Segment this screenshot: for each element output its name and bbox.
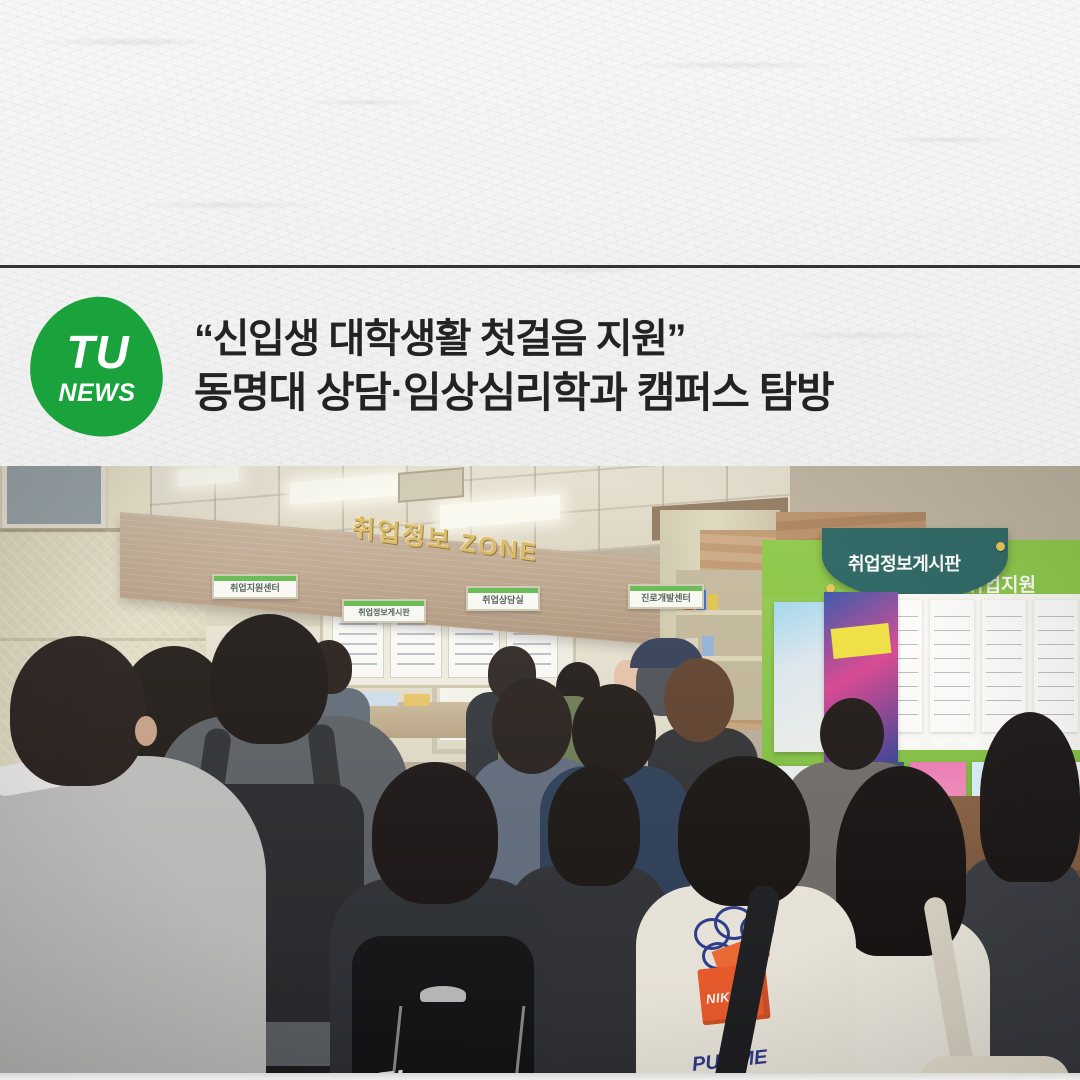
backpack-cords xyxy=(385,1006,526,1080)
hanging-sign-right-label: 진로개발센터 xyxy=(641,593,691,603)
wall-trim-line-2 xyxy=(0,638,218,641)
student-long-hair xyxy=(980,712,1080,882)
backpack-logo-icon xyxy=(420,986,466,1002)
paper-stack xyxy=(404,694,430,706)
hanging-sign-consultation-room: 취업상담실 xyxy=(466,586,540,611)
headline-group: “신입생 대학생활 첫걸음 지원” 동명대 상담·임상심리학과 캠퍼스 탐방 xyxy=(194,313,1080,420)
brochure xyxy=(702,636,714,656)
student-head xyxy=(678,756,810,906)
sign-pin xyxy=(996,542,1005,551)
student-head xyxy=(548,766,640,886)
student-head-front xyxy=(10,636,146,786)
student-head xyxy=(492,678,572,774)
shelf xyxy=(676,610,762,615)
logo-tu-text: TU xyxy=(66,329,129,375)
hanging-sign-notice-board: 취업정보게시판 xyxy=(342,599,426,623)
schedule-sheet xyxy=(930,600,974,732)
student-head xyxy=(664,658,734,742)
headline-quote: “신입생 대학생활 첫걸음 지원” xyxy=(194,313,1080,366)
left-window xyxy=(2,466,106,529)
ceiling-vent xyxy=(398,467,464,503)
student-ear xyxy=(135,716,157,746)
student-head xyxy=(372,762,498,904)
student-head xyxy=(572,684,656,780)
bottom-edge-strip xyxy=(0,1073,1080,1080)
headline-main: 동명대 상담·임상심리학과 캠퍼스 탐방 xyxy=(194,366,1080,421)
student-head xyxy=(210,614,328,744)
hanging-sign-job-support-center: 취업지원센터 xyxy=(212,574,298,599)
brochure xyxy=(708,594,718,610)
student-head xyxy=(820,698,884,770)
student-hoodie xyxy=(0,756,266,1080)
poster-highlight-band xyxy=(831,623,892,659)
logo-text-group: TU NEWS xyxy=(30,297,162,437)
headline-band: TU NEWS “신입생 대학생활 첫걸음 지원” 동명대 상담·임상심리학과 … xyxy=(0,268,1080,466)
logo-news-text: NEWS xyxy=(59,381,136,406)
top-blank-area xyxy=(0,0,1080,266)
tu-news-logo[interactable]: TU NEWS xyxy=(30,297,162,437)
schedule-sheet xyxy=(982,600,1026,732)
hanging-sign-left-label: 취업지원센터 xyxy=(230,583,280,593)
notice-board-label: 취업정보게시판 xyxy=(358,608,410,617)
hanging-sign-career-center: 진로개발센터 xyxy=(628,584,704,609)
news-photo: 취업정보 ZONE 취업지원센터 취업정보게시판 취업상담실 진로개발센터 xyxy=(0,466,1080,1080)
curved-sign-label: 취업정보게시판 xyxy=(848,550,960,576)
schedule-sheet xyxy=(1034,600,1078,732)
news-card: TU NEWS “신입생 대학생활 첫걸음 지원” 동명대 상담·임상심리학과 … xyxy=(0,0,1080,1080)
hanging-sign-center-label: 취업상담실 xyxy=(482,595,523,605)
